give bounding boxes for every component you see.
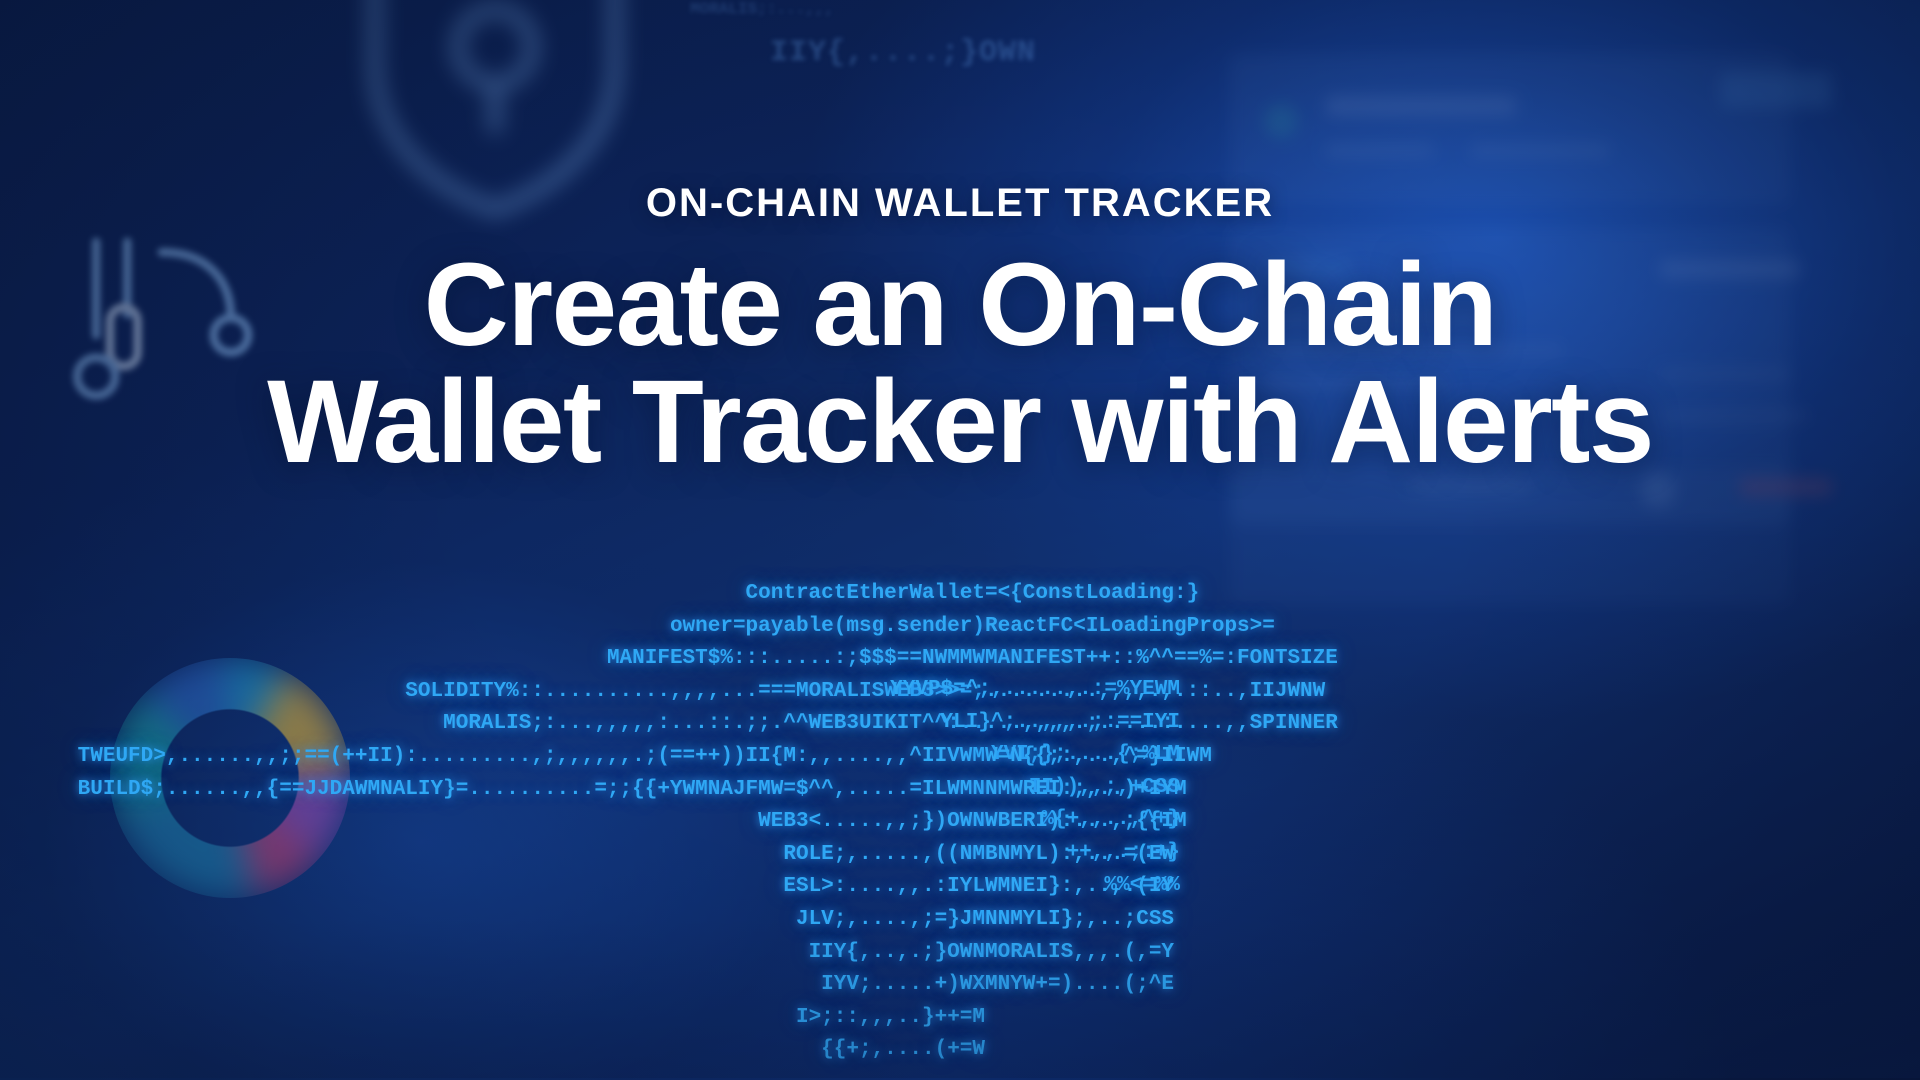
hero-banner: IIY{,....;}OWN MORALIS;:...,,, ContractE… — [0, 0, 1920, 1080]
headline-line-2: Wallet Tracker with Alerts — [267, 364, 1653, 481]
hero-content: ON-CHAIN WALLET TRACKER Create an On-Cha… — [0, 0, 1920, 1080]
page-title: Create an On-Chain Wallet Tracker with A… — [267, 247, 1653, 481]
hero-eyebrow: ON-CHAIN WALLET TRACKER — [646, 181, 1274, 226]
headline-line-1: Create an On-Chain — [267, 247, 1653, 364]
